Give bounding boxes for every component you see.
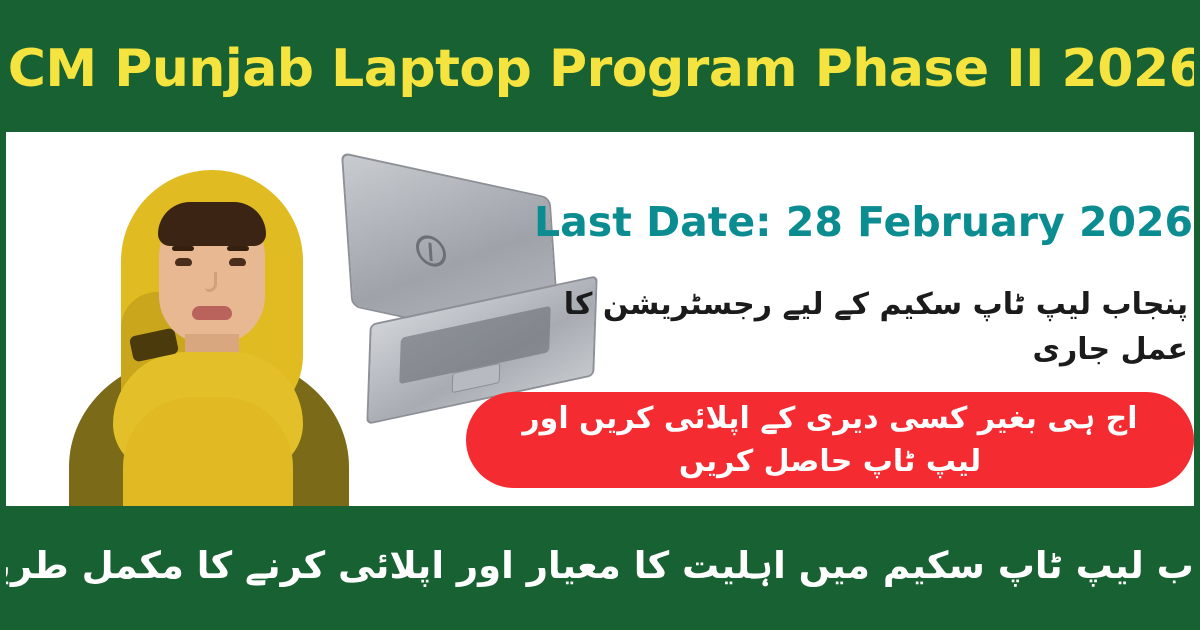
cta-text: اج ہی بغیر کسی دیری کے اپلائی کریں اور ل… xyxy=(466,397,1194,484)
eyebrow-right xyxy=(227,246,249,251)
nose-shape xyxy=(205,272,217,292)
eye-left xyxy=(175,258,192,266)
footer-text: پنجاب لیپ ٹاپ سکیم میں اہلیت کا معیار او… xyxy=(0,544,1200,587)
portrait-image xyxy=(61,142,361,512)
page-title: CM Punjab Laptop Program Phase II 2026 xyxy=(8,39,1200,99)
cta-banner[interactable]: اج ہی بغیر کسی دیری کے اپلائی کریں اور ل… xyxy=(466,392,1194,488)
coat-inner-shape xyxy=(123,397,293,522)
eye-right xyxy=(229,258,246,266)
urdu-subheading: پنجاب لیپ ٹاپ سکیم کے لیے رجسٹریشن کا عم… xyxy=(498,282,1188,372)
footer-bar: پنجاب لیپ ٹاپ سکیم میں اہلیت کا معیار او… xyxy=(6,506,1200,624)
poster-banner: CM Punjab Laptop Program Phase II 2026 xyxy=(0,0,1200,630)
body-area: Last Date: 28 February 2026 پنجاب لیپ ٹا… xyxy=(6,132,1200,512)
header-bar: CM Punjab Laptop Program Phase II 2026 xyxy=(6,6,1200,132)
right-content: Last Date: 28 February 2026 پنجاب لیپ ٹا… xyxy=(476,142,1194,512)
hair-shape xyxy=(158,202,266,246)
lips-shape xyxy=(192,306,232,320)
last-date-text: Last Date: 28 February 2026 xyxy=(534,198,1193,246)
eyebrow-left xyxy=(172,246,194,251)
